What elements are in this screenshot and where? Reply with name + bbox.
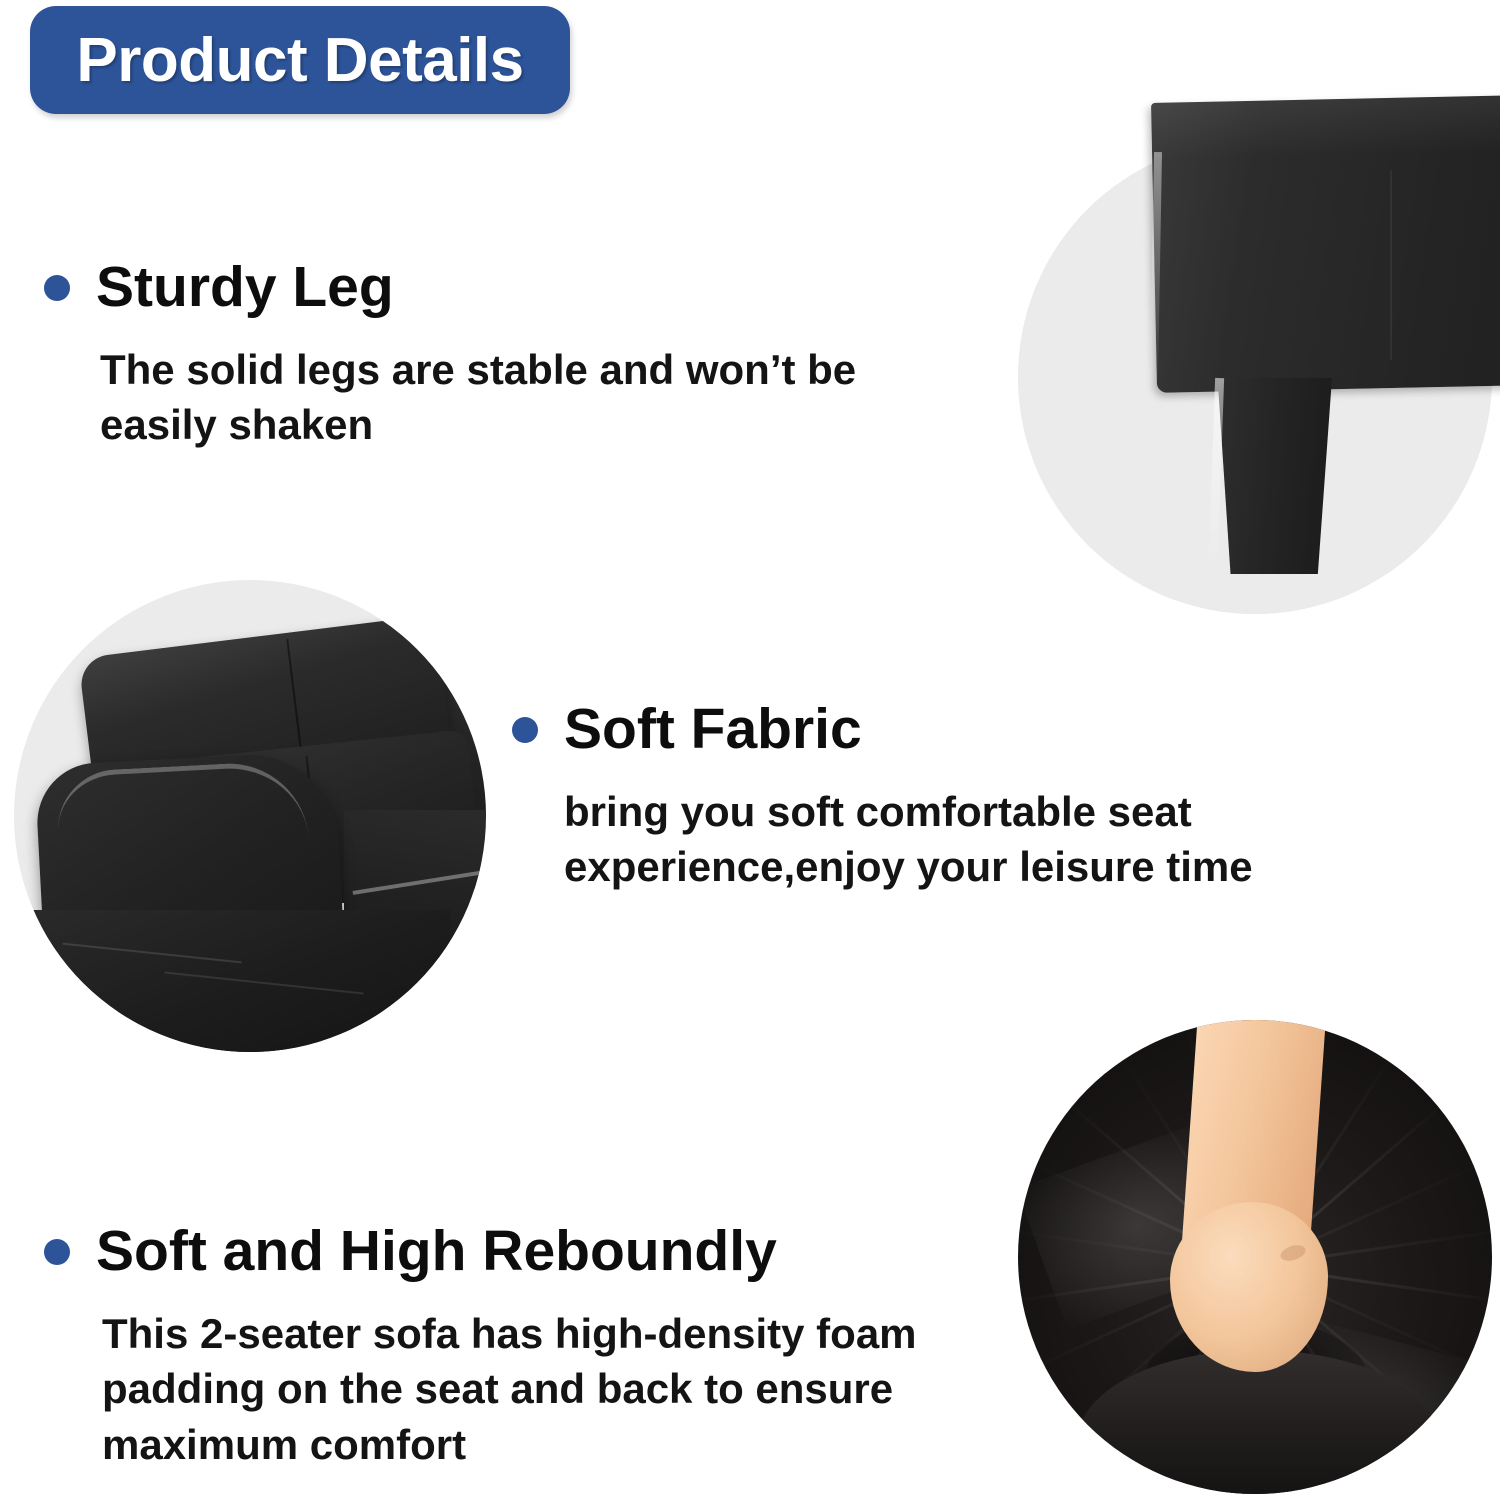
bullet-dot-icon: [44, 275, 70, 301]
feature-title: Soft Fabric: [564, 700, 862, 760]
feature-heading-row: Soft Fabric: [512, 700, 1392, 760]
product-details-infographic: Product Details Sturdy Leg The solid leg…: [0, 0, 1500, 1500]
feature-block-soft-fabric: Soft Fabric bring you soft comfortable s…: [512, 700, 1392, 895]
sofa-leg-shape: [1214, 378, 1332, 574]
feature-block-sturdy-leg: Sturdy Leg The solid legs are stable and…: [44, 258, 904, 453]
bullet-dot-icon: [512, 717, 538, 743]
feature-heading-row: Sturdy Leg: [44, 258, 904, 318]
black-leather-sofa-photo: [14, 580, 486, 1052]
feature-description: This 2-seater sofa has high-density foam…: [102, 1306, 944, 1472]
feature-heading-row: Soft and High Reboundly: [44, 1222, 944, 1282]
sofa-armrest-highlight: [55, 760, 311, 898]
product-details-badge: Product Details: [30, 6, 570, 114]
bullet-dot-icon: [44, 1239, 70, 1265]
sofa-corner-shape: [1151, 93, 1500, 393]
sofa-seam-line: [1390, 170, 1392, 360]
sofa-leg-closeup-photo: [1018, 140, 1492, 614]
feature-description: The solid legs are stable and won’t be e…: [100, 342, 904, 453]
feature-block-soft-and-high-reboundly: Soft and High Reboundly This 2-seater so…: [44, 1222, 944, 1472]
feature-description: bring you soft comfortable seat experien…: [564, 784, 1392, 895]
feature-title: Soft and High Reboundly: [96, 1222, 777, 1282]
hand-pressing-cushion-photo: [1018, 1020, 1492, 1494]
feature-title: Sturdy Leg: [96, 258, 394, 318]
page-title: Product Details: [76, 25, 523, 96]
